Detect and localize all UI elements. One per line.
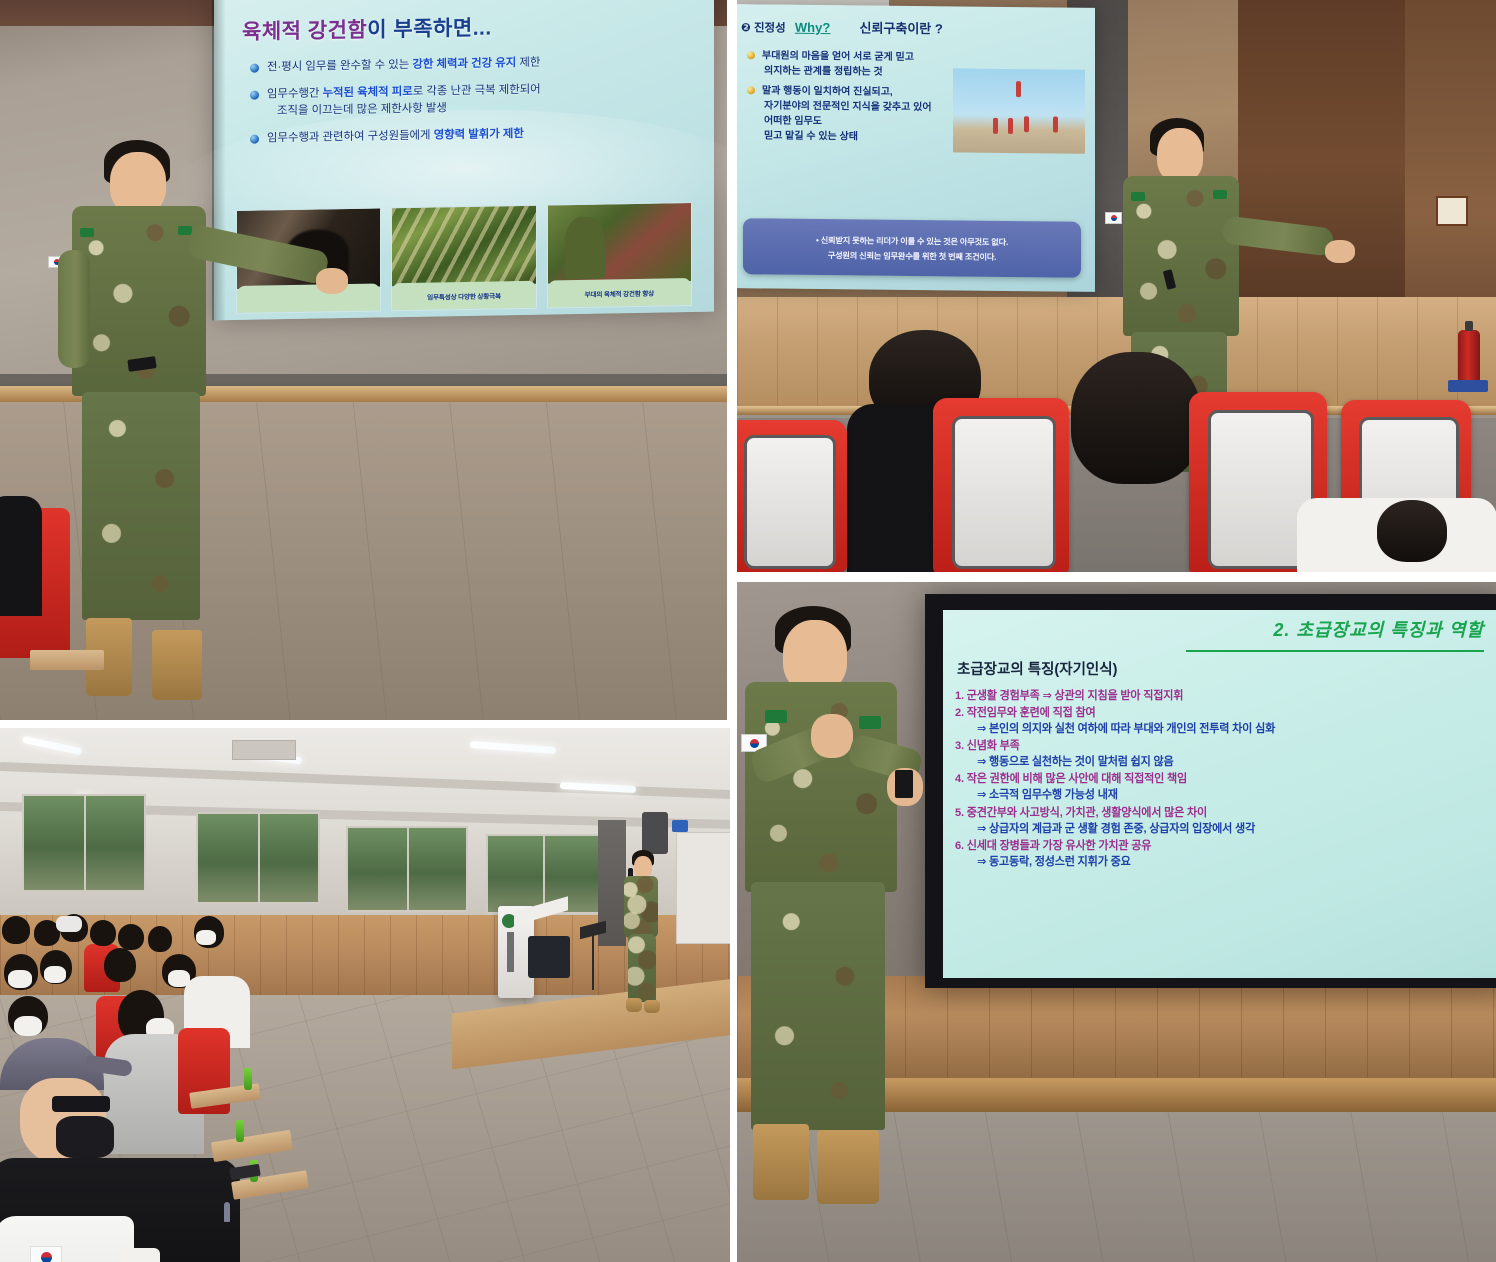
panel-top-left[interactable]: 육체적 강건함이 부족하면... 전·평시 임무를 완수할 수 있는 강한 체력… [0,0,727,720]
photo-river-crossing [392,206,535,286]
slide3-item: 6. 신세대 장병들과 가장 유사한 가치관 공유 ⇒ 동고동락, 정성스런 지… [955,838,1486,870]
presentation-clicker [895,770,913,798]
face-mask [44,966,66,983]
officer-boot-right [817,1130,879,1204]
ceiling-vent [232,740,296,760]
officer-right-hand [316,268,348,294]
rank-insignia [80,228,94,237]
audience-head [2,916,30,944]
rank-insignia [859,716,881,729]
projection-screen-slide-2: ❷ 진정성 Why? 신뢰구축이란 ? 부대원의 마음을 얻어 서로 굳게 믿고… [737,4,1095,292]
slide1-photo-training: 임무특성상 다양한 상황극복 [391,205,536,312]
audience-head [148,926,172,952]
audience-head [90,920,116,946]
face-mask [8,970,32,988]
auditorium-seat [933,398,1069,572]
audience-cap [56,916,82,932]
slide3-surface: 2. 초급장교의 특징과 역할 초급장교의 특징(자기인식) 1. 군생활 경험… [943,610,1496,978]
korean-flag-patch [1105,212,1122,224]
officer-head [110,152,166,214]
photo-collage: 육체적 강건함이 부족하면... 전·평시 임무를 완수할 수 있는 강한 체력… [0,0,1496,1262]
audience-head-center [1071,352,1201,484]
water-bottle [244,1068,252,1090]
officer-legs [82,392,200,620]
cup [224,1202,230,1222]
slide3-title: 2. 초급장교의 특징과 역할 [943,616,1484,642]
wall-sign [1436,196,1468,226]
officer-left-arm [58,250,90,368]
slide3-item: 1. 군생활 경험부족 ⇒ 상관의 지침을 받아 직접지휘 [955,688,1486,704]
window [486,834,600,914]
slide1-bullet: 임무수행과 관련하여 구성원들에게 영향력 발휘가 제한 [250,123,690,148]
photo-caption [237,284,380,313]
face-mask-black [56,1116,114,1158]
audience-head [104,948,136,982]
officer-left-hand-gesture [811,714,853,758]
bullet-icon [250,135,259,144]
korean-flag-patch [30,1246,62,1262]
eyeglasses-icon [52,1096,110,1112]
jacket-letter [120,1248,160,1262]
bullet-icon [747,51,755,59]
why-link: Why? [795,20,830,35]
officer-boot-left [753,1124,809,1200]
whiteboard [676,832,730,944]
bullet-icon [250,64,259,73]
face-mask [14,1016,42,1036]
photo-soldiers [548,203,691,283]
rank-insignia [1213,190,1227,199]
photo-caption: 임무특성상 다양한 상황극복 [392,281,535,310]
slide2-callout-box: • 신뢰받지 못하는 리더가 이룰 수 있는 것은 아무것도 없다. 구성원의 … [743,218,1081,278]
face-mask [196,930,216,945]
slide1-bullet: 전·평시 임무를 완수할 수 있는 강한 체력과 건강 유지 제한 [250,52,690,77]
officer-head [634,856,652,878]
fire-extinguisher-icon [1458,330,1480,382]
window [196,812,320,904]
photo-caption: 부대의 육체적 강건함 향상 [548,279,691,308]
bullet-icon [747,86,755,94]
slide3-item: 3. 신념화 부족 ⇒ 행동으로 실천하는 것이 말처럼 쉽지 않음 [955,738,1486,770]
slide3-item: 5. 중견간부와 사고방식, 가치관, 생활양식에서 많은 차이 ⇒ 상급자의 … [955,805,1486,837]
officer-boot-right [152,630,202,700]
extinguisher-base [1448,380,1488,392]
rank-insignia [765,710,787,723]
black-chair [528,936,570,978]
slide3-item: 4. 작은 권한에 비해 많은 사안에 대해 직접적인 책임 ⇒ 소극적 임무수… [955,771,1486,803]
rank-insignia [1131,192,1145,201]
slide1-title: 육체적 강건함이 부족하면... [242,12,492,46]
officer-torso [624,876,658,938]
window [22,794,146,892]
audience-head [118,924,144,950]
projection-screen-slide-3: 2. 초급장교의 특징과 역할 초급장교의 특징(자기인식) 1. 군생활 경험… [925,594,1496,988]
window [346,826,468,912]
panel-top-right[interactable]: ❷ 진정성 Why? 신뢰구축이란 ? 부대원의 마음을 얻어 서로 굳게 믿고… [737,0,1496,572]
speaker-box [642,812,668,854]
audience-head-right [1377,500,1447,562]
slide1-bullet: 임무수행간 누적된 육체적 피로로 각종 난관 극복 제한되어 조직을 이끄는데… [250,79,690,122]
slide3-title-underline [1186,650,1484,652]
officer-boot-left [626,998,642,1012]
wall-device-icon [672,820,688,832]
slide3-subtitle: 초급장교의 특징(자기인식) [957,658,1117,679]
slide2-header: ❷ 진정성 Why? 신뢰구축이란 ? [741,16,943,37]
jacket-sleeve-white [0,1216,134,1262]
bullet-icon [250,90,259,99]
foreground-person-shoulder [0,496,42,616]
water-bottle [236,1120,244,1142]
auditorium-seat [737,420,847,572]
officer-legs [628,934,656,1002]
slide1-bullet-list: 전·평시 임무를 완수할 수 있는 강한 체력과 건강 유지 제한 임무수행간 … [250,52,690,157]
slide3-item: 2. 작전임무와 훈련에 직접 참여 ⇒ 본인의 의지와 실천 여하에 따라 부… [955,705,1486,737]
slide1-photo-soldiers: 부대의 육체적 강건함 향상 [547,202,692,309]
panel-bottom-left[interactable] [0,728,730,1262]
music-stand-pole [592,934,594,990]
slide2-beach-photo [953,68,1085,153]
slide3-item-list: 1. 군생활 경험부족 ⇒ 상관의 지침을 받아 직접지휘 2. 작전임무와 훈… [955,688,1486,871]
officer-legs [751,882,885,1130]
foreground-desk [30,650,104,670]
panel-bottom-right[interactable]: 2. 초급장교의 특징과 역할 초급장교의 특징(자기인식) 1. 군생활 경험… [737,582,1496,1262]
officer-right-hand [1325,240,1355,263]
officer-head [1157,128,1203,182]
officer-boot-right [644,1000,660,1013]
